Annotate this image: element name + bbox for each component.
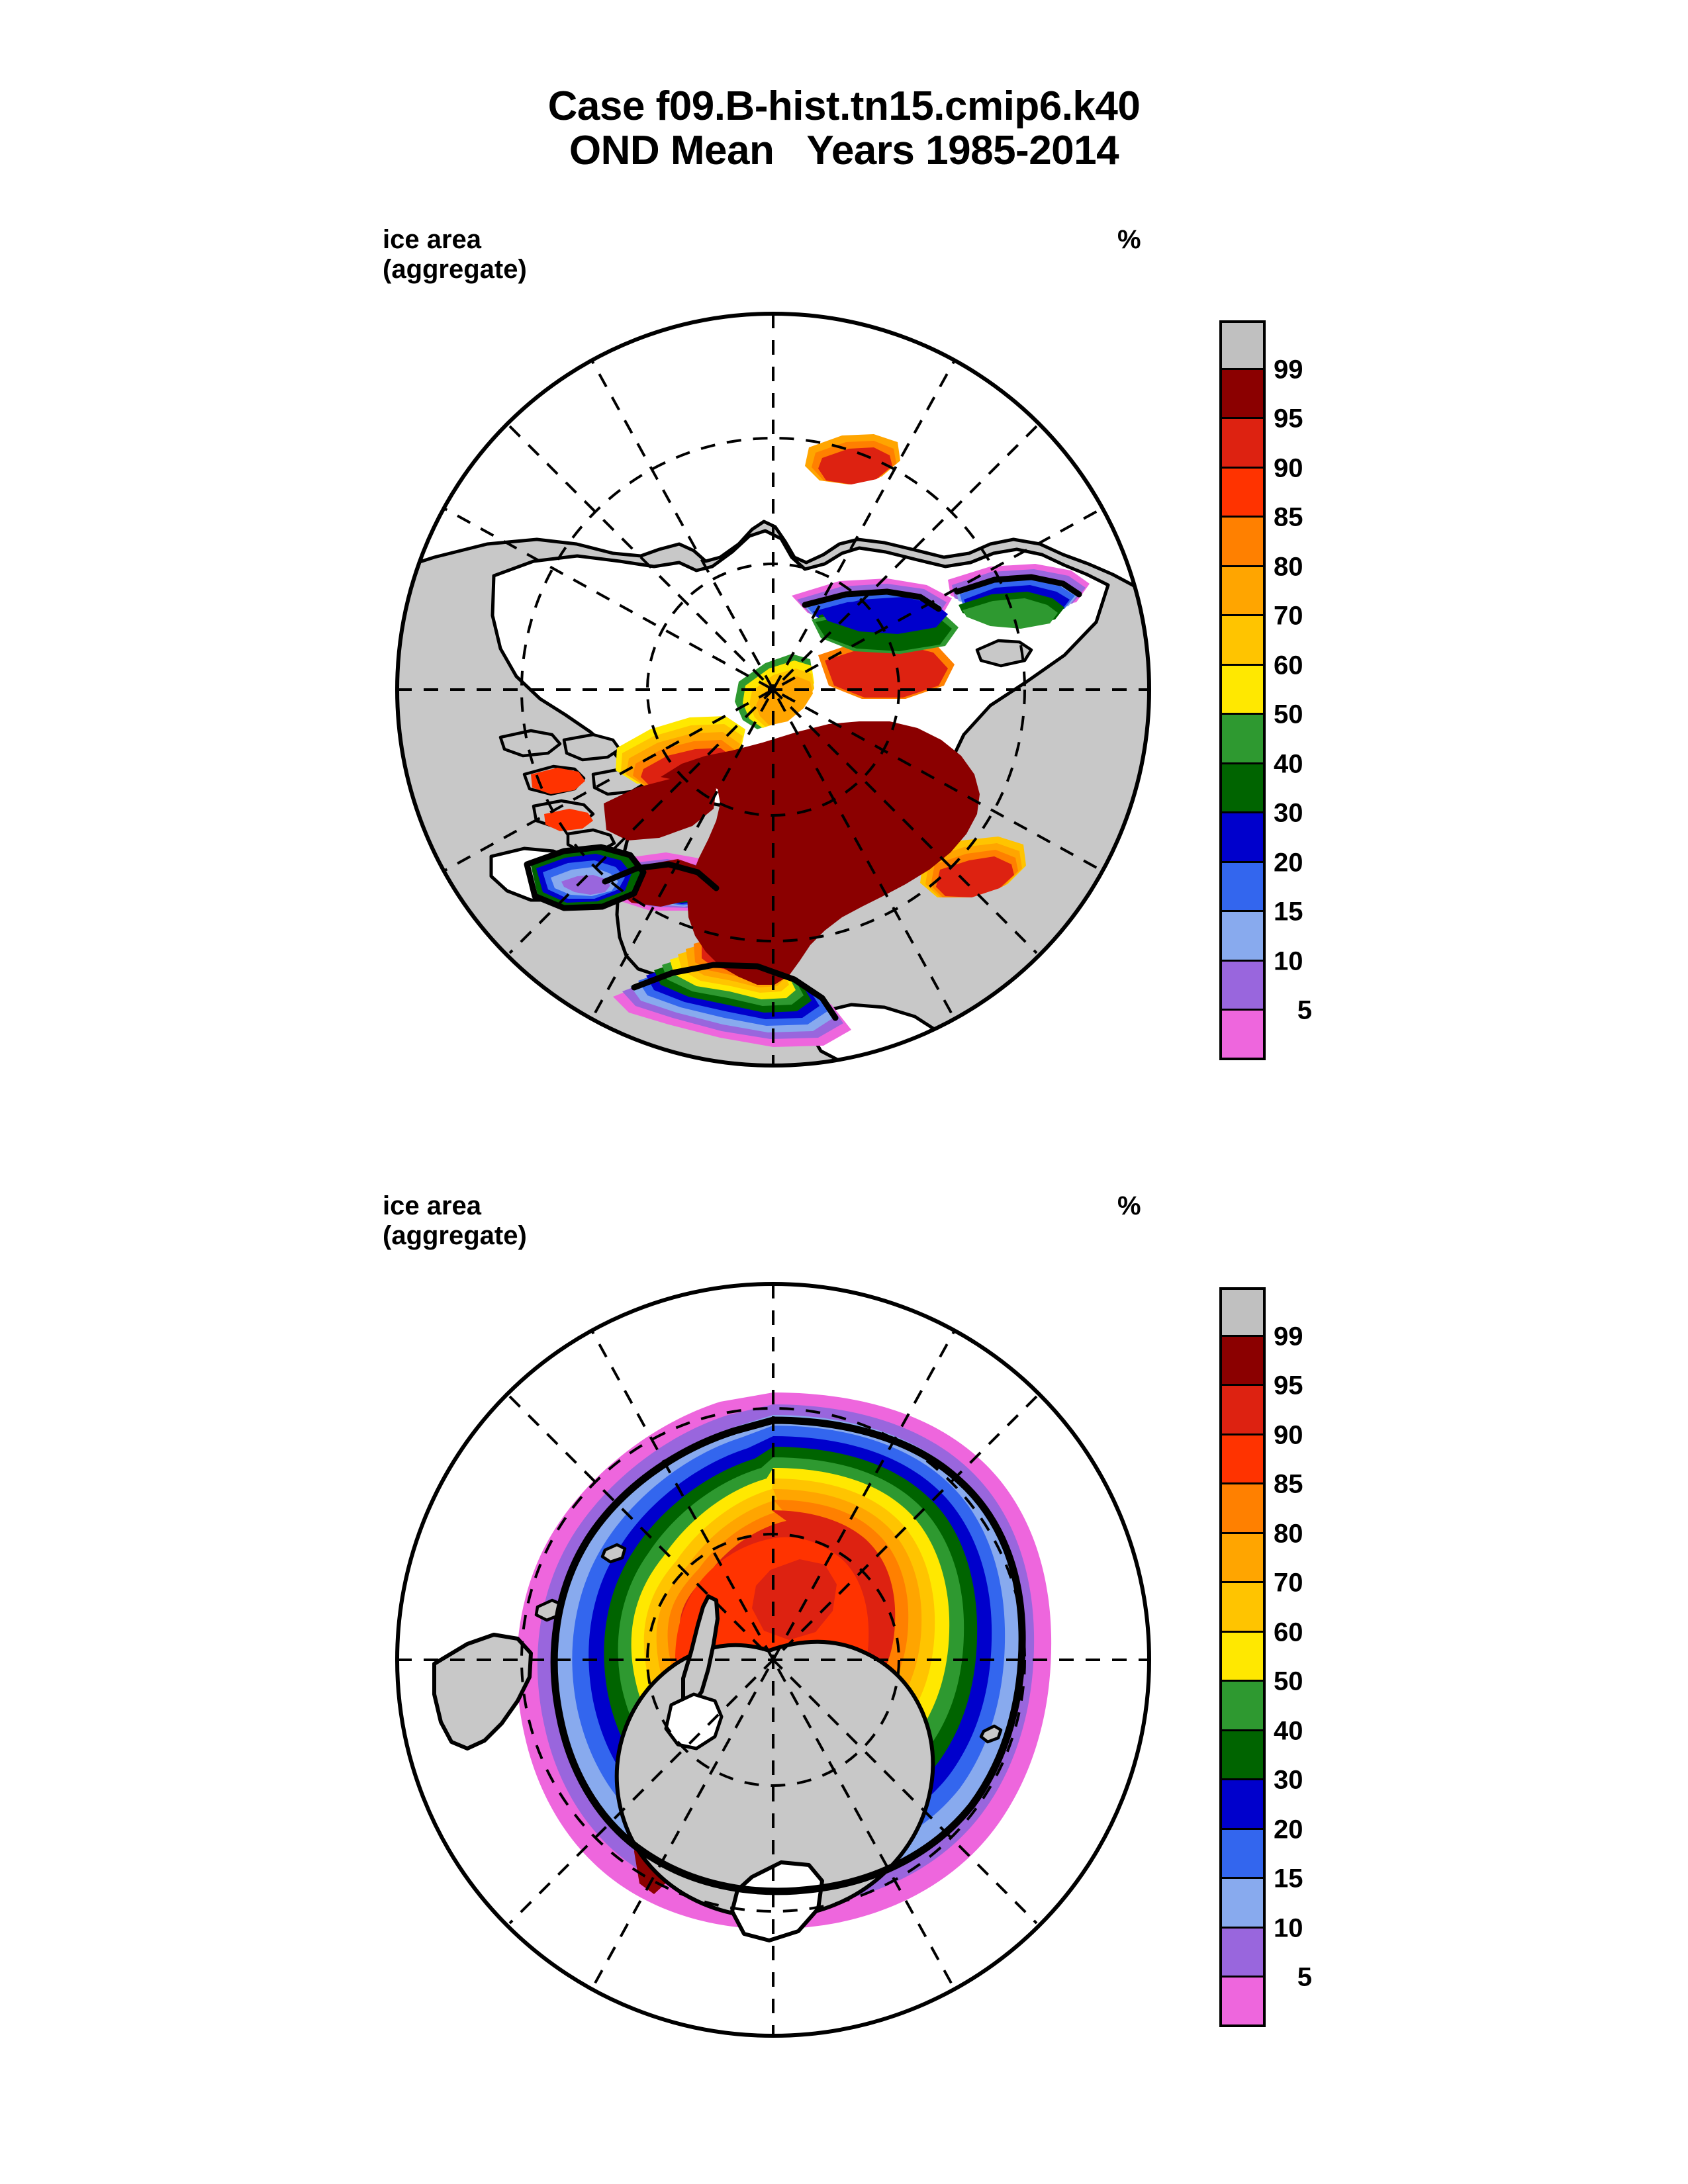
arctic-colorbar-tick-5: 5: [1274, 996, 1312, 1026]
arctic-colorbar-tick-70: 70: [1274, 602, 1353, 631]
antarctic-colorbar-tick-40: 40: [1274, 1716, 1353, 1746]
antarctic-colorbar-band-6: [1219, 1583, 1266, 1633]
arctic-colorbar-tick-95: 95: [1274, 404, 1353, 434]
arctic-colorbar-tick-40: 40: [1274, 749, 1353, 779]
arctic-colorbar-band-0: [1219, 320, 1266, 370]
arctic-units-label: %: [1117, 225, 1141, 255]
antarctic-colorbar-band-9: [1219, 1731, 1266, 1781]
antarctic-colorbar-band-3: [1219, 1435, 1266, 1485]
arctic-map-canvas: [395, 311, 1152, 1072]
arctic-colorbar-band-12: [1219, 912, 1266, 962]
antarctic-colorbar-tick-70: 70: [1274, 1569, 1353, 1598]
arctic-variable-label: ice area (aggregate): [383, 225, 527, 285]
antarctic-colorbar-band-12: [1219, 1879, 1266, 1929]
arctic-colorbar-band-3: [1219, 469, 1266, 518]
arctic-colorbar-tick-60: 60: [1274, 651, 1353, 680]
arctic-colorbar-tick-50: 50: [1274, 700, 1353, 730]
antarctic-colorbar-tick-90: 90: [1274, 1420, 1353, 1450]
page-title: Case f09.B-hist.tn15.cmip6.k40 OND Mean …: [0, 85, 1688, 173]
arctic-colorbar-band-7: [1219, 666, 1266, 715]
antarctic-map[interactable]: [395, 1281, 1152, 2042]
arctic-colorbar-tick-10: 10: [1274, 946, 1353, 976]
antarctic-colorbar-band-4: [1219, 1484, 1266, 1534]
title-line-2: OND Mean Years 1985-2014: [0, 129, 1688, 173]
arctic-colorbar-band-14: [1219, 1011, 1266, 1060]
arctic-colorbar-band-6: [1219, 616, 1266, 666]
arctic-colorbar-tick-30: 30: [1274, 799, 1353, 829]
antarctic-colorbar-band-13: [1219, 1929, 1266, 1978]
arctic-map[interactable]: [395, 311, 1152, 1072]
arctic-colorbar-band-9: [1219, 764, 1266, 814]
antarctic-colorbar-band-10: [1219, 1780, 1266, 1830]
antarctic-colorbar-tick-60: 60: [1274, 1617, 1353, 1647]
antarctic-colorbar-tick-95: 95: [1274, 1371, 1353, 1401]
arctic-colorbar-tick-90: 90: [1274, 453, 1353, 483]
arctic-colorbar-tick-15: 15: [1274, 897, 1353, 927]
antarctic-colorbar-band-11: [1219, 1830, 1266, 1880]
arctic-colorbar-band-8: [1219, 715, 1266, 764]
antarctic-graticule: [397, 1284, 1149, 2036]
antarctic-colorbar-band-1: [1219, 1337, 1266, 1387]
antarctic-units-label: %: [1117, 1191, 1141, 1221]
arctic-colorbar-band-13: [1219, 962, 1266, 1011]
arctic-colorbar-tick-80: 80: [1274, 552, 1353, 582]
antarctic-colorbar-tick-85: 85: [1274, 1470, 1353, 1500]
antarctic-colorbar-band-2: [1219, 1386, 1266, 1435]
antarctic-colorbar-tick-99: 99: [1274, 1322, 1353, 1351]
antarctic-colorbar-tick-80: 80: [1274, 1519, 1353, 1549]
arctic-colorbar-band-5: [1219, 567, 1266, 617]
arctic-colorbar-band-10: [1219, 813, 1266, 863]
antarctic-colorbar-tick-10: 10: [1274, 1913, 1353, 1943]
arctic-colorbar-band-1: [1219, 370, 1266, 420]
arctic-colorbar-tick-85: 85: [1274, 503, 1353, 533]
antarctic-map-canvas: [395, 1281, 1152, 2042]
antarctic-variable-label: ice area (aggregate): [383, 1191, 527, 1251]
antarctic-colorbar-tick-30: 30: [1274, 1766, 1353, 1796]
antarctic-colorbar-tick-20: 20: [1274, 1815, 1353, 1844]
antarctic-colorbar-tick-5: 5: [1274, 1963, 1312, 1993]
antarctic-colorbar-band-5: [1219, 1534, 1266, 1584]
title-line-1: Case f09.B-hist.tn15.cmip6.k40: [0, 85, 1688, 129]
antarctic-colorbar-band-0: [1219, 1287, 1266, 1337]
antarctic-colorbar-band-14: [1219, 1978, 1266, 2027]
arctic-colorbar-band-2: [1219, 419, 1266, 469]
antarctic-colorbar-band-7: [1219, 1633, 1266, 1682]
antarctic-map-content: [397, 1284, 1149, 2036]
arctic-colorbar-band-4: [1219, 518, 1266, 567]
antarctic-colorbar[interactable]: 999590858070605040302015105: [1219, 1287, 1365, 2027]
arctic-colorbar-tick-99: 99: [1274, 355, 1353, 385]
antarctic-colorbar-band-8: [1219, 1682, 1266, 1731]
arctic-graticule: [397, 314, 1149, 1066]
antarctic-colorbar-tick-50: 50: [1274, 1667, 1353, 1697]
arctic-colorbar[interactable]: 999590858070605040302015105: [1219, 320, 1365, 1060]
antarctic-colorbar-tick-15: 15: [1274, 1864, 1353, 1894]
arctic-colorbar-tick-20: 20: [1274, 848, 1353, 878]
arctic-colorbar-band-11: [1219, 863, 1266, 913]
